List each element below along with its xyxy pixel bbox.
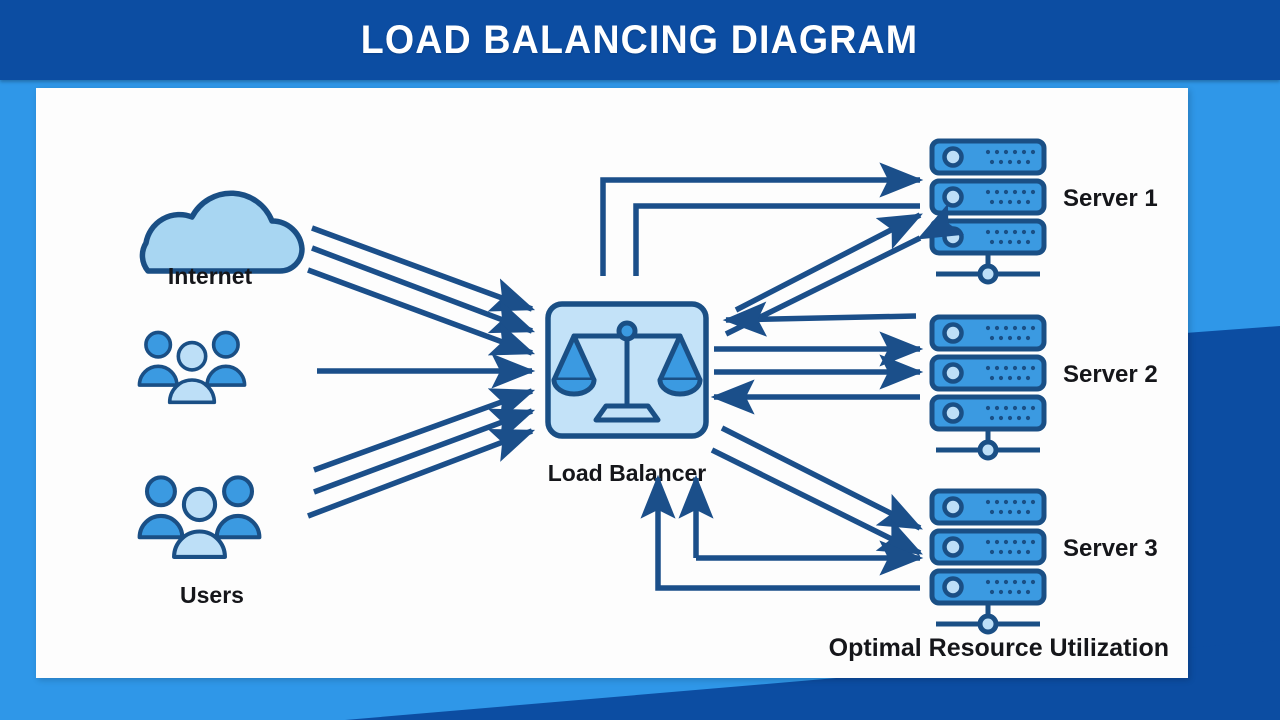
- cloud-icon: [142, 193, 302, 271]
- users-icon-top: [139, 332, 244, 402]
- server-1-label: Server 1: [1063, 185, 1158, 212]
- inbound-arrows: [308, 228, 532, 516]
- optimal-resource-label: Optimal Resource Utilization: [829, 634, 1169, 662]
- server-rack-icon-3: [932, 491, 1044, 632]
- load-balancer-label: Load Balancer: [548, 460, 707, 486]
- users-icon-bottom: [140, 477, 260, 557]
- diagram-canvas: Internet Users Load Balancer: [36, 88, 1188, 678]
- server-2-label: Server 2: [1063, 361, 1158, 388]
- internet-label: Internet: [168, 263, 253, 289]
- load-balancer-node[interactable]: [548, 304, 706, 436]
- server-3-flows: [658, 428, 920, 588]
- server-2-flows: [714, 349, 920, 397]
- server-rack-icon-2: [932, 317, 1044, 458]
- server-1-return-arrow: [726, 316, 916, 320]
- server-3-label: Server 3: [1063, 535, 1158, 562]
- header-bar: LOAD BALANCING DIAGRAM: [0, 0, 1280, 80]
- page-title: LOAD BALANCING DIAGRAM: [361, 18, 918, 63]
- server-rack-icon-1: [932, 141, 1044, 282]
- users-label: Users: [180, 582, 244, 608]
